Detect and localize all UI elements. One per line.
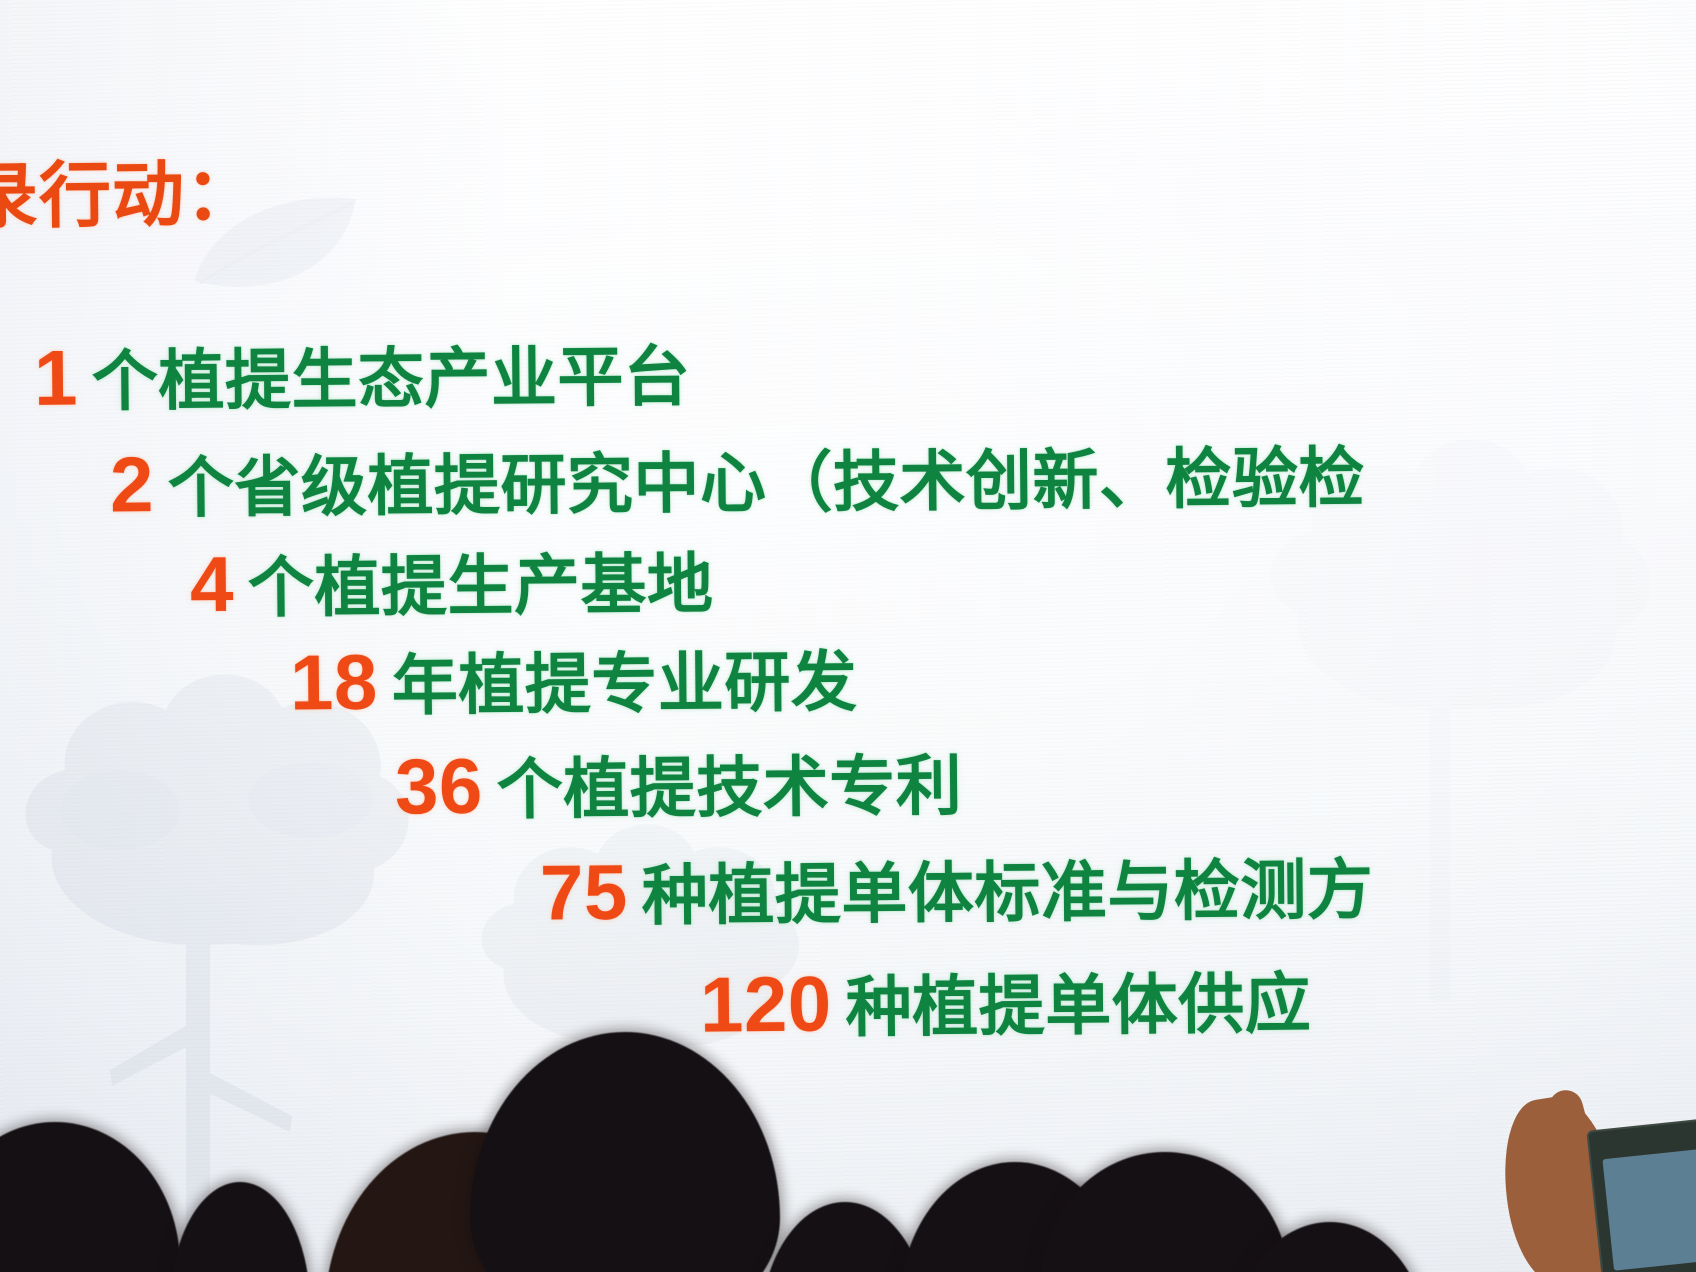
- audience-head-1: [0, 1122, 180, 1272]
- slide-photo: 录行动： 1 个植提生态产业平台 2 个省级植提研究中心（技术创新、检验检 4 …: [0, 0, 1696, 1272]
- hand-holding-phone: [1466, 1072, 1696, 1272]
- audience-head-4: [470, 1032, 780, 1272]
- audience-head-2: [170, 1182, 310, 1272]
- audience-silhouettes: [0, 972, 1696, 1272]
- phone-screen: [1602, 1149, 1696, 1270]
- audience-head-7: [1040, 1152, 1290, 1272]
